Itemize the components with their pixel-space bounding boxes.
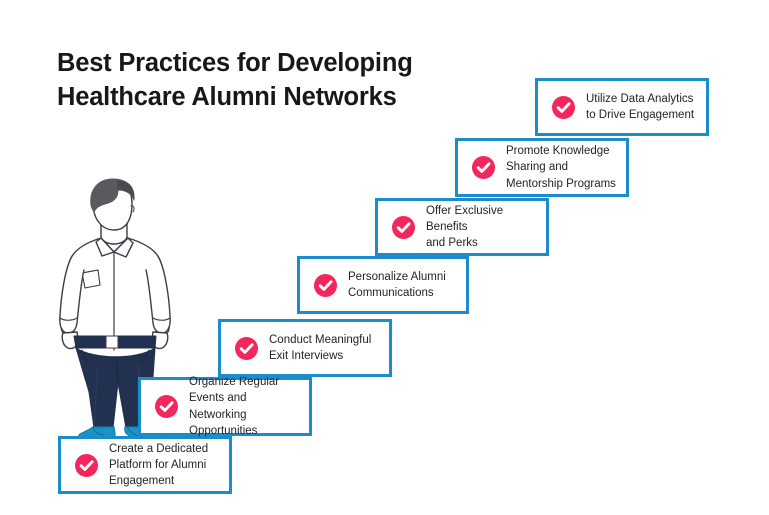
step-label-2: Organize Regular Events and Networking O… xyxy=(189,374,309,439)
step-label-7: Utilize Data Analytics to Drive Engageme… xyxy=(586,91,700,124)
check-circle-icon xyxy=(155,395,178,418)
step-label-1: Create a Dedicated Platform for Alumni E… xyxy=(109,441,214,490)
step-label-5: Offer Exclusive Benefits and Perks xyxy=(426,203,546,252)
step-label-3: Conduct Meaningful Exit Interviews xyxy=(269,332,377,365)
check-circle-icon xyxy=(552,96,575,119)
step-card-5[interactable]: Offer Exclusive Benefits and Perks xyxy=(375,198,549,256)
check-circle-icon xyxy=(392,216,415,239)
page-title: Best Practices for Developing Healthcare… xyxy=(57,47,487,115)
step-card-6[interactable]: Promote Knowledge Sharing and Mentorship… xyxy=(455,138,629,197)
check-circle-icon xyxy=(314,274,337,297)
step-label-6: Promote Knowledge Sharing and Mentorship… xyxy=(506,143,622,192)
step-label-4: Personalize Alumni Communications xyxy=(348,269,452,302)
check-circle-icon xyxy=(75,454,98,477)
step-card-4[interactable]: Personalize Alumni Communications xyxy=(297,256,469,314)
step-card-2[interactable]: Organize Regular Events and Networking O… xyxy=(138,377,312,436)
check-circle-icon xyxy=(235,337,258,360)
infographic-canvas: Best Practices for Developing Healthcare… xyxy=(0,0,769,515)
step-card-1[interactable]: Create a Dedicated Platform for Alumni E… xyxy=(58,436,232,494)
step-card-7[interactable]: Utilize Data Analytics to Drive Engageme… xyxy=(535,78,709,136)
check-circle-icon xyxy=(472,156,495,179)
step-card-3[interactable]: Conduct Meaningful Exit Interviews xyxy=(218,319,392,377)
